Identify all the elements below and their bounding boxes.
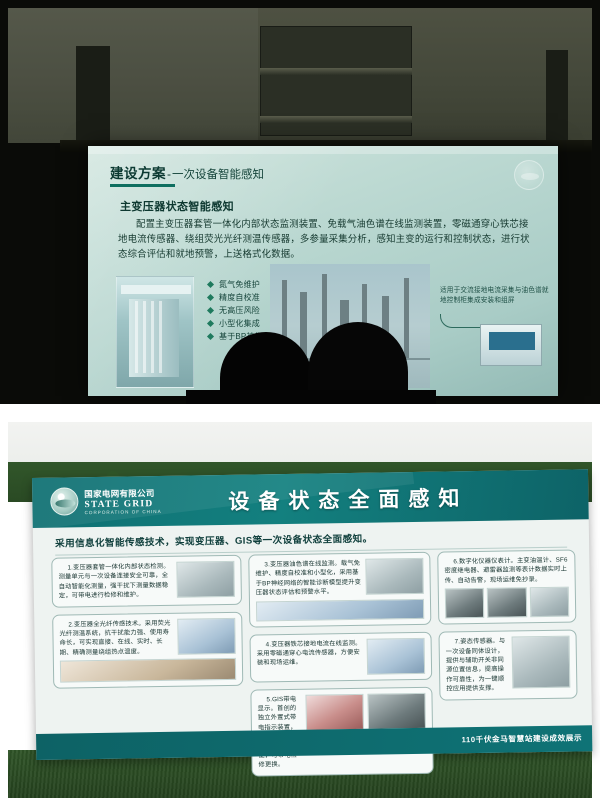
diamond-bullet-icon	[207, 333, 214, 340]
state-grid-emblem-icon	[50, 487, 78, 515]
diamond-bullet-icon	[207, 281, 214, 288]
card-4: 4.变压器铁芯接地电流在线监测。采用零磁通穿心电流传感器，方便安装和现场运维。	[249, 631, 432, 682]
card-1: 1.变压器套管一体化内部状态检测。测量单元与一次设备连接安全可靠，全自动智能化测…	[51, 555, 242, 608]
bullet-label: 精度自校准	[219, 292, 260, 303]
card-3-thumb-row	[256, 598, 424, 621]
slide-watermark-logo-icon	[514, 160, 544, 190]
audience-shoulders	[186, 390, 436, 404]
slide-image-transformer	[116, 276, 194, 388]
card-7-text: 7.姿态传感器。与一次设备同体设计，提供与辅助开关非同源位置信息，提高操作可靠性…	[446, 637, 509, 694]
slide-title: 建设方案-一次设备智能感知	[110, 162, 264, 183]
card-2-thumbnail-b	[60, 658, 236, 683]
bullet-label: 小型化集成	[219, 318, 260, 329]
wall-panel	[108, 8, 258, 143]
photo-separator	[0, 404, 600, 420]
card-6-thumbnail-c	[529, 587, 569, 618]
card-4-text: 4.变压器铁芯接地电流在线监测。采用零磁通穿心电流传感器，方便安装和现场运维。	[257, 638, 364, 676]
shelf-board	[260, 68, 412, 75]
card-4-thumbnail	[367, 637, 426, 674]
diamond-bullet-icon	[207, 320, 214, 327]
card-7: 7.姿态传感器。与一次设备同体设计，提供与辅助开关非同源位置信息，提高操作可靠性…	[438, 630, 577, 701]
card-3-text: 3.变压器油色谱在线监测。载气免维护、精度自校准和小型化，采用基于BP神经网络的…	[255, 559, 362, 598]
card-1-body: 1.变压器套管一体化内部状态检测。测量单元与一次设备连接安全可靠，全自动智能化测…	[58, 561, 235, 601]
card-3-thumbnail	[365, 558, 424, 595]
card-2-thumb-row	[60, 658, 236, 683]
callout-cabinet-image	[480, 324, 542, 366]
card-6: 6.数字化仪器仪表计。主变油温计、SF6密度继电器、避雷器监测等表计数据实时上传…	[437, 549, 576, 624]
card-6-thumbnail-a	[445, 588, 485, 619]
room-wall	[8, 8, 592, 143]
top-photo-projected-slide: 建设方案-一次设备智能感知 主变压器状态智能感知 配置主变压器套管一体化内部状态…	[0, 0, 600, 404]
card-3-thumbnail-b	[256, 598, 424, 621]
state-grid-wordmark: 国家电网有限公司 STATE GRID CORPORATION OF CHINA	[84, 486, 162, 514]
title-underline	[110, 184, 175, 187]
callout-leader-line	[440, 314, 484, 328]
card-7-thumbnail	[512, 636, 571, 689]
board-footer-text: 110千伏金马智慧站建设成效展示	[462, 732, 583, 745]
slide-callout-text: 适用于交流接地电流采集与油色谱就地控制柜集成安装和组屏	[440, 286, 550, 306]
board-title: 设备状态全面感知	[228, 482, 468, 516]
card-7-body: 7.姿态传感器。与一次设备同体设计，提供与辅助开关非同源位置信息，提高操作可靠性…	[446, 636, 571, 694]
card-1-text: 1.变压器套管一体化内部状态检测。测量单元与一次设备连接安全可靠，全自动智能化测…	[58, 562, 173, 601]
transformer-fin	[143, 301, 146, 373]
card-5-thumbnail-a	[305, 693, 364, 730]
shelf-board	[260, 116, 412, 123]
bottom-photo-exhibition-board: 国家电网有限公司 STATE GRID CORPORATION OF CHINA…	[0, 420, 600, 800]
transformer-fin	[151, 301, 154, 373]
board-header: 国家电网有限公司 STATE GRID CORPORATION OF CHINA…	[32, 469, 589, 528]
card-5-thumbnail-b	[367, 692, 426, 729]
wall-recess	[546, 50, 568, 142]
card-2-body: 2.变压器全光纤传感技术。采用荧光光纤测温系统，抗干扰能力强、使用寿命长，可实现…	[59, 617, 236, 657]
transformer-fin	[159, 301, 162, 373]
slide-title-main: 建设方案	[110, 166, 166, 181]
card-6-thumb-row	[445, 587, 569, 619]
state-grid-logo: 国家电网有限公司 STATE GRID CORPORATION OF CHINA	[50, 486, 162, 516]
card-2-text: 2.变压器全光纤传感技术。采用荧光光纤测温系统，抗干扰能力强、使用寿命长，可实现…	[59, 618, 174, 657]
card-6-text: 6.数字化仪器仪表计。主变油温计、SF6密度继电器、避雷器监测等表计数据实时上传…	[444, 556, 568, 586]
bullet-label: 无高压风险	[219, 305, 260, 316]
slide-paragraph: 配置主变压器套管一体化内部状态监测装置、免载气油色谱在线监测装置，零磁通穿心铁芯…	[118, 216, 538, 261]
card-2: 2.变压器全光纤传感技术。采用荧光光纤测温系统，抗干扰能力强、使用寿命长，可实现…	[52, 611, 243, 689]
company-name-en: STATE GRID	[84, 498, 161, 509]
card-3: 3.变压器油色谱在线监测。载气免维护、精度自校准和小型化，采用基于BP神经网络的…	[248, 552, 431, 627]
screen-glare	[88, 146, 558, 154]
cabinet-screen	[489, 332, 535, 350]
exhibition-board: 国家电网有限公司 STATE GRID CORPORATION OF CHINA…	[32, 469, 592, 760]
company-name-cn: 国家电网有限公司	[84, 486, 161, 499]
transformer-fin	[135, 301, 138, 373]
diamond-bullet-icon	[207, 307, 214, 314]
diamond-bullet-icon	[207, 294, 214, 301]
wall-recess	[76, 46, 110, 142]
transformer-top	[121, 285, 191, 294]
slide-title-sub: 一次设备智能感知	[172, 169, 264, 181]
card-6-thumbnail-b	[487, 587, 527, 618]
card-3-body: 3.变压器油色谱在线监测。载气免维护、精度自校准和小型化，采用基于BP神经网络的…	[255, 558, 424, 598]
bullet-label: 氮气免维护	[219, 279, 260, 290]
pylon	[404, 278, 409, 358]
card-2-thumbnail	[177, 617, 236, 654]
slide-section-heading: 主变压器状态智能感知	[120, 198, 234, 214]
company-name-en-sub: CORPORATION OF CHINA	[85, 508, 162, 514]
card-1-thumbnail	[176, 561, 235, 598]
card-4-body: 4.变压器铁芯接地电流在线监测。采用零磁通穿心电流传感器，方便安装和现场运维。	[257, 637, 426, 676]
